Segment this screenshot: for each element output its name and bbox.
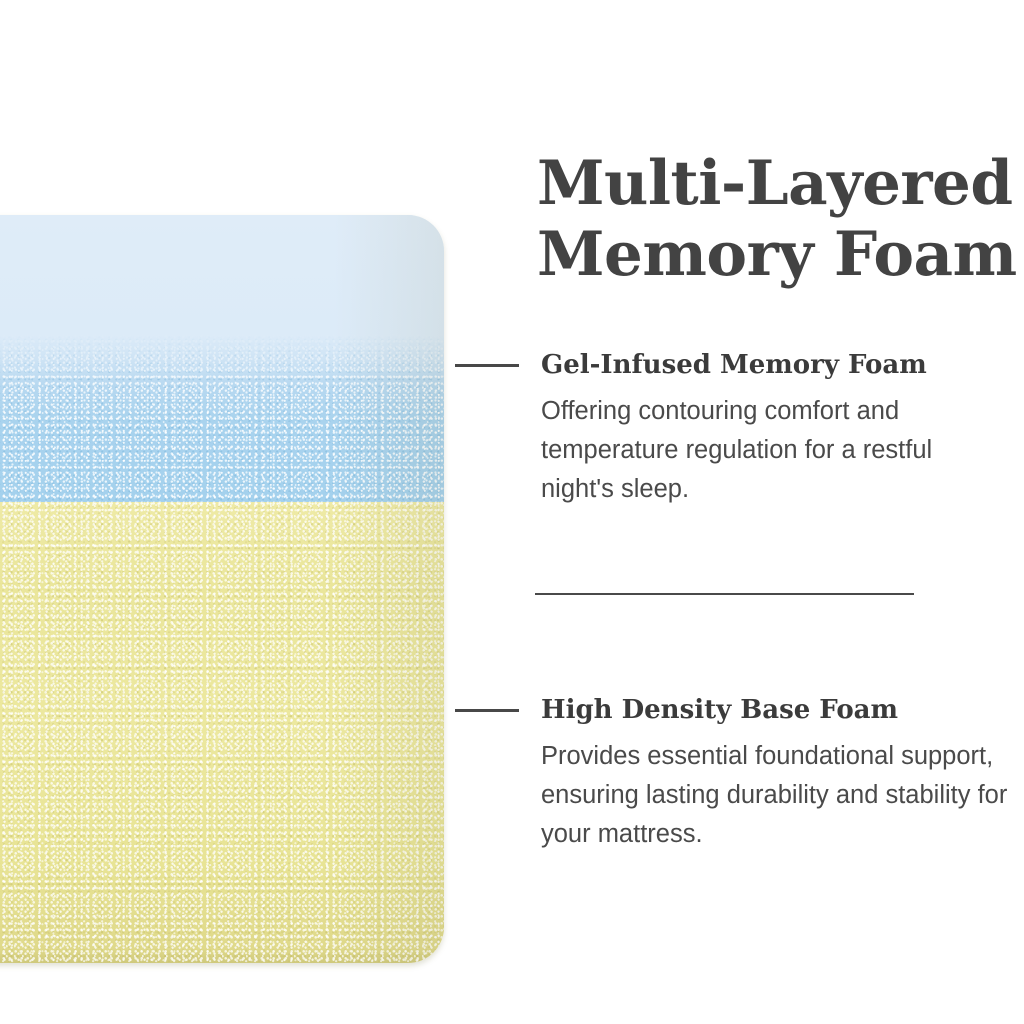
product-infographic: Multi-Layered Memory Foam Gel-Infused Me…	[0, 0, 1024, 1024]
page-title-line-1: Multi-Layered	[537, 149, 1007, 220]
callout-text-block: Gel-Infused Memory Foam Offering contour…	[541, 350, 1011, 508]
gel-layer-foam-texture	[0, 333, 444, 502]
foam-layer-gel-infused	[0, 215, 444, 502]
callout-text-block: High Density Base Foam Provides essentia…	[541, 695, 1011, 853]
page-title: Multi-Layered Memory Foam	[537, 149, 1007, 291]
base-layer-foam-texture	[0, 502, 444, 963]
callout-description: Provides essential foundational support,…	[541, 737, 1011, 853]
page-title-line-2: Memory Foam	[537, 220, 1007, 291]
callout-description: Offering contouring comfort and temperat…	[541, 392, 1011, 508]
leader-line-icon	[455, 709, 519, 712]
callout-title: High Density Base Foam	[541, 695, 1011, 725]
mattress-foam-stack-image	[0, 215, 444, 963]
leader-line-icon	[455, 364, 519, 367]
section-divider	[535, 593, 914, 595]
callout-gel-infused-memory-foam: Gel-Infused Memory Foam Offering contour…	[455, 350, 1011, 508]
callout-title: Gel-Infused Memory Foam	[541, 350, 1011, 380]
callout-high-density-base-foam: High Density Base Foam Provides essentia…	[455, 695, 1011, 853]
foam-layer-high-density-base	[0, 502, 444, 963]
